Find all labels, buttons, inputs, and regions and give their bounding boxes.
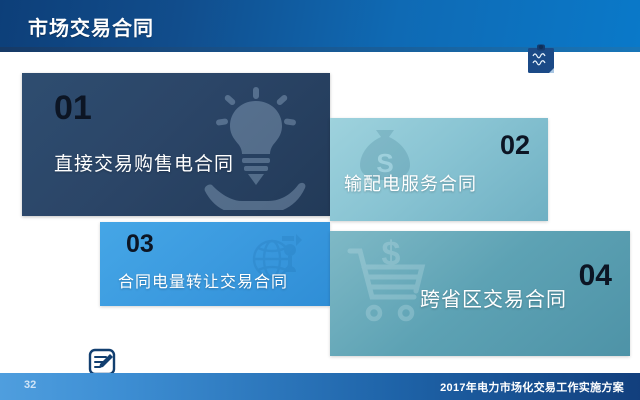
card-label: 合同电量转让交易合同 <box>118 268 288 292</box>
page-title: 市场交易合同 <box>28 12 154 41</box>
card-label: 输配电服务合同 <box>344 170 477 196</box>
footer-title: 2017年电力市场化交易工作实施方案 <box>440 379 624 395</box>
svg-text:$: $ <box>382 237 401 273</box>
contract-card-02[interactable]: S 02 输配电服务合同 <box>330 118 548 221</box>
lightbulb-in-hand-icon <box>196 85 316 210</box>
note-clipboard-icon <box>524 42 558 76</box>
contract-card-03[interactable]: 03 合同电量转让交易合同 <box>100 222 330 306</box>
edit-note-pencil-icon <box>88 348 116 376</box>
card-number: 03 <box>126 232 154 257</box>
contract-card-01[interactable]: 01 直接交易购售电合同 <box>22 73 330 216</box>
card-number: 01 <box>54 91 92 125</box>
contract-card-04[interactable]: $ 04 跨省区交易合同 <box>330 231 630 356</box>
slide-canvas: 市场交易合同 <box>0 0 640 400</box>
card-label: 跨省区交易合同 <box>420 283 567 312</box>
slide-footer-bar: 32 2017年电力市场化交易工作实施方案 <box>0 373 640 400</box>
card-number: 04 <box>579 261 612 291</box>
page-number: 32 <box>24 379 36 391</box>
card-label: 直接交易购售电合同 <box>54 149 234 176</box>
card-number: 02 <box>500 132 530 159</box>
